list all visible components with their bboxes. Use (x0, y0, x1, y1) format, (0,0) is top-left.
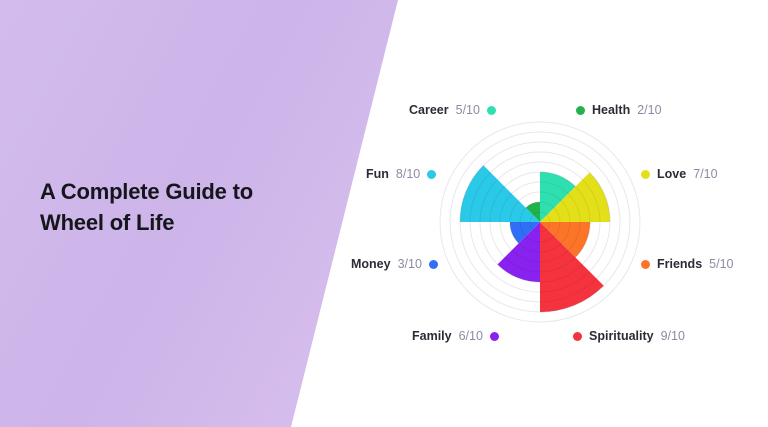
wheel-of-life-chart: Career 5/10 2/10 Health 7/10 Love 5/10 F… (330, 0, 768, 427)
chart-label-friends-name: Friends (657, 257, 702, 271)
legend-dot-fun (427, 170, 436, 179)
chart-label-family-score: 6/10 (459, 329, 483, 343)
chart-label-spirituality-score: 9/10 (661, 329, 685, 343)
legend-dot-career (487, 106, 496, 115)
legend-dot-friends (641, 260, 650, 269)
wheel-of-life-infographic: A Complete Guide to Wheel of Life Career… (0, 0, 768, 427)
chart-label-money[interactable]: Money 3/10 (351, 257, 438, 271)
page-title: A Complete Guide to Wheel of Life (40, 176, 320, 238)
chart-label-love[interactable]: 7/10 Love (641, 167, 718, 181)
chart-label-money-score: 3/10 (398, 257, 422, 271)
chart-label-health-name: Health (592, 103, 630, 117)
chart-label-career-score: 5/10 (456, 103, 480, 117)
chart-label-health-score: 2/10 (637, 103, 661, 117)
chart-label-family[interactable]: Family 6/10 (412, 329, 499, 343)
chart-label-love-name: Love (657, 167, 686, 181)
chart-label-career[interactable]: Career 5/10 (409, 103, 496, 117)
chart-label-family-name: Family (412, 329, 452, 343)
chart-label-fun[interactable]: Fun 8/10 (366, 167, 436, 181)
legend-dot-money (429, 260, 438, 269)
chart-label-friends-score: 5/10 (709, 257, 733, 271)
chart-label-fun-name: Fun (366, 167, 389, 181)
legend-dot-love (641, 170, 650, 179)
chart-label-career-name: Career (409, 103, 449, 117)
legend-dot-family (490, 332, 499, 341)
chart-label-fun-score: 8/10 (396, 167, 420, 181)
chart-label-health[interactable]: 2/10 Health (576, 103, 662, 117)
legend-dot-spirituality (573, 332, 582, 341)
chart-label-money-name: Money (351, 257, 391, 271)
legend-dot-health (576, 106, 585, 115)
wheel-chart-svg (330, 0, 768, 427)
chart-label-love-score: 7/10 (693, 167, 717, 181)
chart-label-friends[interactable]: 5/10 Friends (641, 257, 734, 271)
chart-label-spirituality[interactable]: 9/10 Spirituality (573, 329, 685, 343)
chart-label-spirituality-name: Spirituality (589, 329, 654, 343)
